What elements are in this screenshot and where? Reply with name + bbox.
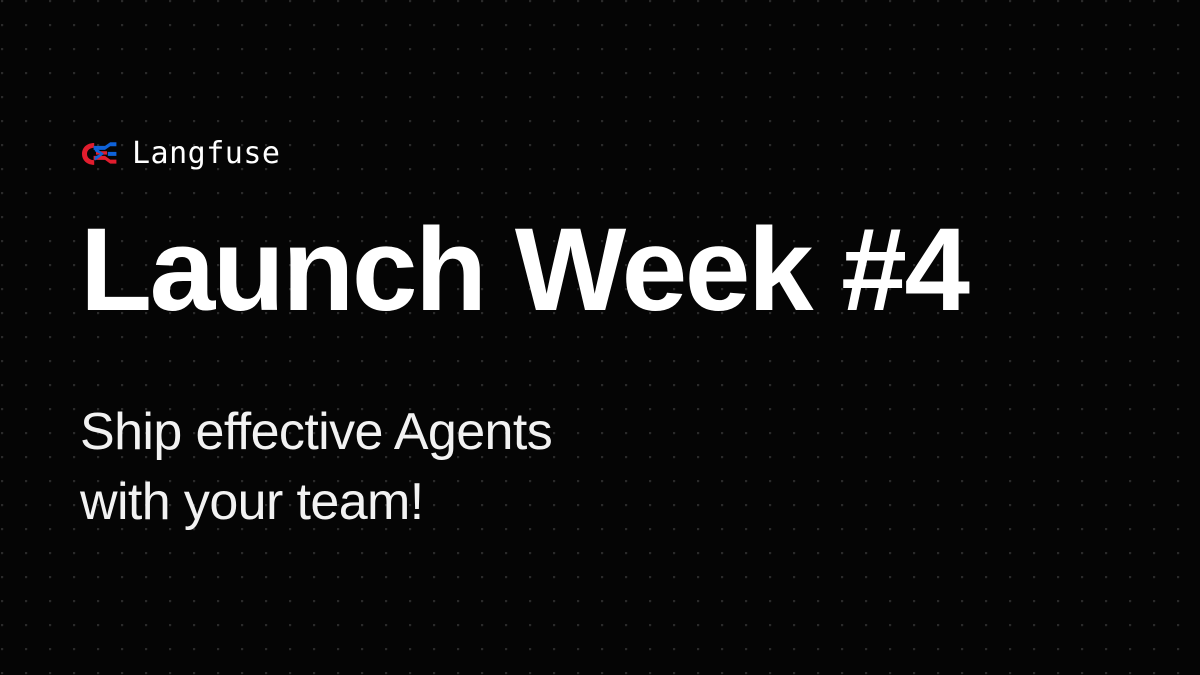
brand-lockup: Langfuse xyxy=(80,139,281,169)
langfuse-logo-icon xyxy=(80,140,118,168)
subtitle-line-1: Ship effective Agents xyxy=(80,397,552,467)
subtitle-line-2: with your team! xyxy=(80,467,552,537)
brand-name: Langfuse xyxy=(132,139,281,169)
banner-content: Langfuse Launch Week #4 Ship effective A… xyxy=(80,0,1120,675)
subtitle: Ship effective Agents with your team! xyxy=(80,397,552,537)
launch-week-banner: Langfuse Launch Week #4 Ship effective A… xyxy=(0,0,1200,675)
page-title: Launch Week #4 xyxy=(80,211,968,329)
